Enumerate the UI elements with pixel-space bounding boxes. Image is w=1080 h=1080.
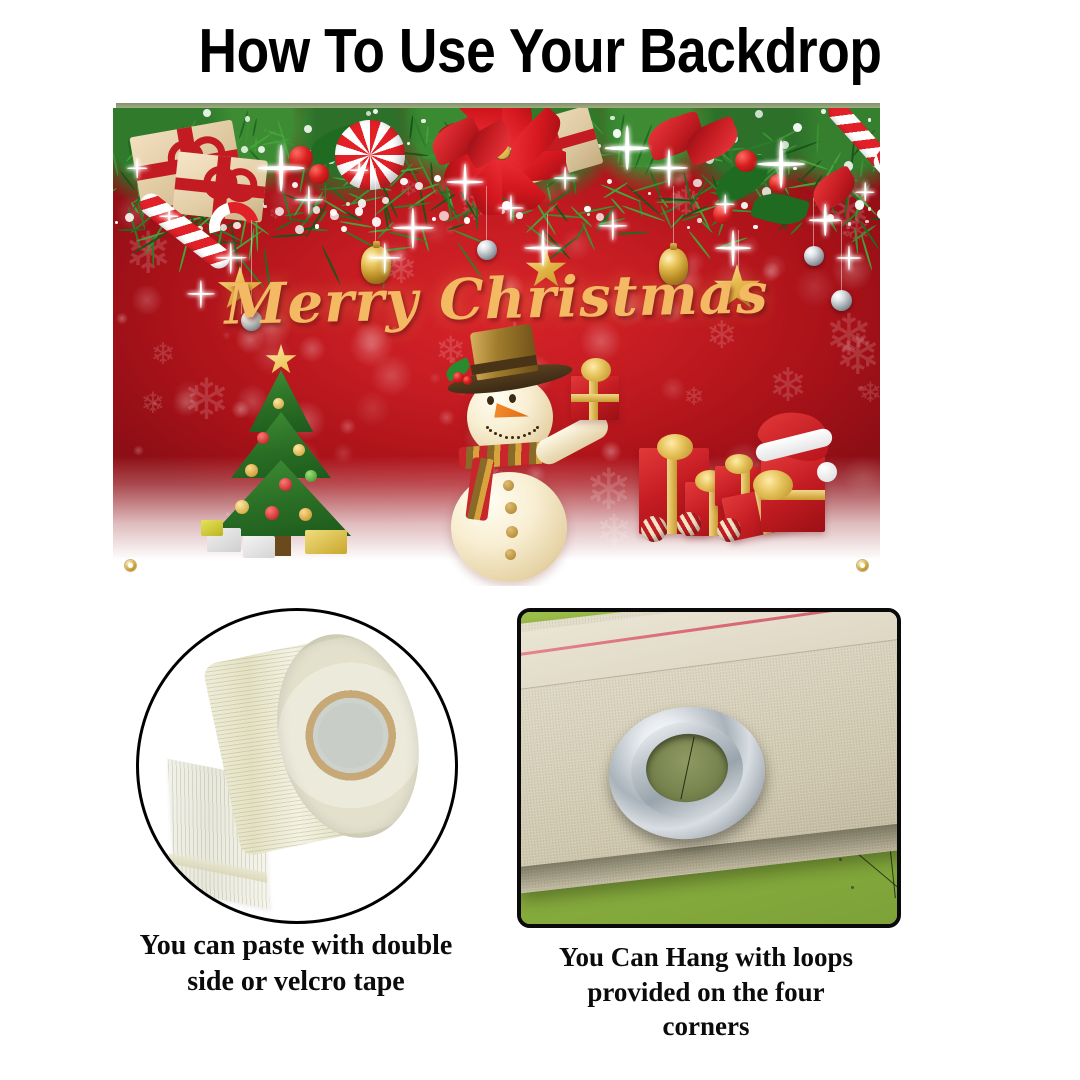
snow-dot [693, 179, 702, 188]
tape-figure [136, 608, 458, 924]
holly-berry [713, 204, 733, 224]
snow-dot [373, 109, 378, 114]
snow-dot [434, 175, 441, 182]
tree-ornament [293, 444, 305, 456]
snow-dot [258, 146, 265, 153]
snow-dot [415, 182, 423, 190]
snow-dot [607, 179, 612, 184]
silver-ornament [477, 240, 497, 260]
snowman-button [505, 549, 516, 560]
pine-needle [387, 231, 426, 242]
snow-dot [439, 211, 449, 221]
snow-dot [355, 207, 363, 215]
snowman-mouth-dot [533, 429, 536, 432]
santa-hat [753, 412, 843, 476]
tree-gift [201, 520, 223, 536]
snowman [429, 340, 619, 540]
snow-dot [304, 125, 312, 133]
pine-needle [271, 233, 307, 237]
tree-ornament [305, 470, 317, 482]
grommet-caption: You Can Hang with loops provided on the … [506, 940, 906, 1044]
gold-bow [725, 454, 753, 474]
snow-dot [241, 146, 248, 153]
bokeh-dot [660, 376, 685, 401]
tree-ornament [257, 432, 269, 444]
tree-gift [305, 530, 347, 554]
snowman-eye [487, 396, 494, 405]
snow-dot [741, 202, 748, 209]
snow-dot [868, 118, 871, 121]
snow-dot [516, 212, 522, 218]
holly-berry [289, 146, 313, 170]
snowflake-icon: ❄ [140, 389, 169, 418]
fabric-speck [839, 858, 842, 861]
snow-dot [372, 217, 381, 226]
red-gift-stack [633, 404, 863, 564]
christmas-tree [201, 360, 361, 556]
snowflake-icon: ❄ [834, 327, 880, 383]
snow-dot [610, 116, 614, 120]
snow-dot [821, 109, 826, 114]
tape-caption-line-2: side or velcro tape [96, 964, 496, 1000]
snow-dot [687, 226, 690, 229]
snowman-mouth-dot [486, 426, 489, 429]
snow-dot [613, 129, 622, 138]
striped-bauble [677, 512, 701, 536]
snowman-button [506, 526, 518, 538]
snowman-button [505, 502, 517, 514]
snow-dot [865, 220, 869, 224]
striped-bauble [641, 516, 667, 542]
snow-dot [793, 167, 797, 171]
banner-canvas: ❄❄❄❄❄❄❄❄❄❄❄❄❄❄❄❄❄❄❄❄❄❄❄❄❄❄ [113, 108, 880, 586]
hat-berry [463, 376, 472, 385]
holly-berry [769, 174, 787, 192]
snowman-mouth-dot [517, 436, 520, 439]
pine-needle [688, 230, 711, 259]
snow-dot [753, 225, 757, 229]
snowman-button [503, 480, 514, 491]
snowman-mouth-dot [511, 436, 514, 439]
grommet-icon [857, 560, 868, 571]
instruction-sheet: How To Use Your Backdrop ❄❄❄❄❄❄❄❄❄❄❄❄❄❄❄… [0, 0, 1080, 1080]
bokeh-dot [370, 354, 413, 397]
snow-dot [848, 222, 852, 226]
snow-dot [358, 199, 366, 207]
star-string [547, 214, 548, 254]
snow-dot [697, 218, 701, 222]
grommet-caption-line-1: You Can Hang with loops [506, 940, 906, 975]
ornament-string [813, 198, 814, 248]
tree-ornament [299, 508, 312, 521]
holly-berry [735, 150, 757, 172]
ornament-string [673, 186, 674, 250]
gift-band-horizontal [571, 394, 619, 402]
grommet-figure [517, 608, 901, 928]
snow-dot [584, 206, 591, 213]
snow-dot [263, 205, 266, 208]
gift-band-vertical [667, 448, 677, 534]
ornament-string [375, 168, 376, 248]
pine-needle [715, 236, 748, 249]
tree-ornament [245, 464, 258, 477]
tree-tier [211, 460, 351, 536]
snowman-mouth-dot [505, 436, 508, 439]
snow-dot [464, 217, 470, 223]
snowman-eye [509, 394, 516, 403]
bokeh-dot [133, 445, 144, 456]
tree-ornament [279, 478, 292, 491]
grommet-icon [125, 560, 136, 571]
snow-dot [346, 202, 350, 206]
holly-berry [309, 164, 329, 184]
snow-dot [755, 110, 763, 118]
snow-dot [421, 119, 426, 124]
snow-dot [115, 221, 118, 224]
pine-needle [614, 231, 649, 235]
bokeh-dot [298, 335, 326, 363]
tree-ornament [265, 506, 279, 520]
tree-gift [243, 536, 275, 558]
tree-ornament [235, 500, 249, 514]
tape-caption: You can paste with double side or velcro… [96, 928, 496, 1000]
banner-greeting-text: Merry Christmas [113, 258, 880, 340]
snow-dot [295, 225, 304, 234]
grommet-caption-line-2: provided on the four [506, 975, 906, 1010]
snowflake-icon: ❄ [769, 362, 815, 408]
page-title: How To Use Your Backdrop [76, 16, 1005, 87]
backdrop-banner-figure: ❄❄❄❄❄❄❄❄❄❄❄❄❄❄❄❄❄❄❄❄❄❄❄❄❄❄ [113, 103, 880, 586]
snow-dot [341, 226, 347, 232]
snow-dot [781, 141, 789, 149]
snow-dot [855, 200, 865, 210]
grommet-caption-line-3: corners [506, 1009, 906, 1044]
tape-caption-line-1: You can paste with double [96, 928, 496, 964]
snow-dot [400, 178, 408, 186]
snow-dot [315, 224, 319, 228]
santa-hat-pompom [817, 462, 837, 482]
snow-dot [877, 209, 880, 219]
snowman-held-gift [571, 376, 619, 420]
tree-ornament [273, 398, 284, 409]
fabric-speck [851, 886, 854, 889]
snowflake-icon: ❄ [151, 340, 181, 370]
snow-dot [382, 197, 389, 204]
gold-bow [657, 434, 693, 460]
snow-dot [245, 116, 250, 121]
ornament-string [486, 186, 487, 242]
peppermint-candy [335, 120, 405, 190]
snow-dot [366, 111, 371, 116]
gold-bow [581, 358, 611, 382]
holly-berry [275, 164, 292, 181]
striped-bauble [717, 518, 741, 542]
snow-dot [330, 209, 337, 216]
